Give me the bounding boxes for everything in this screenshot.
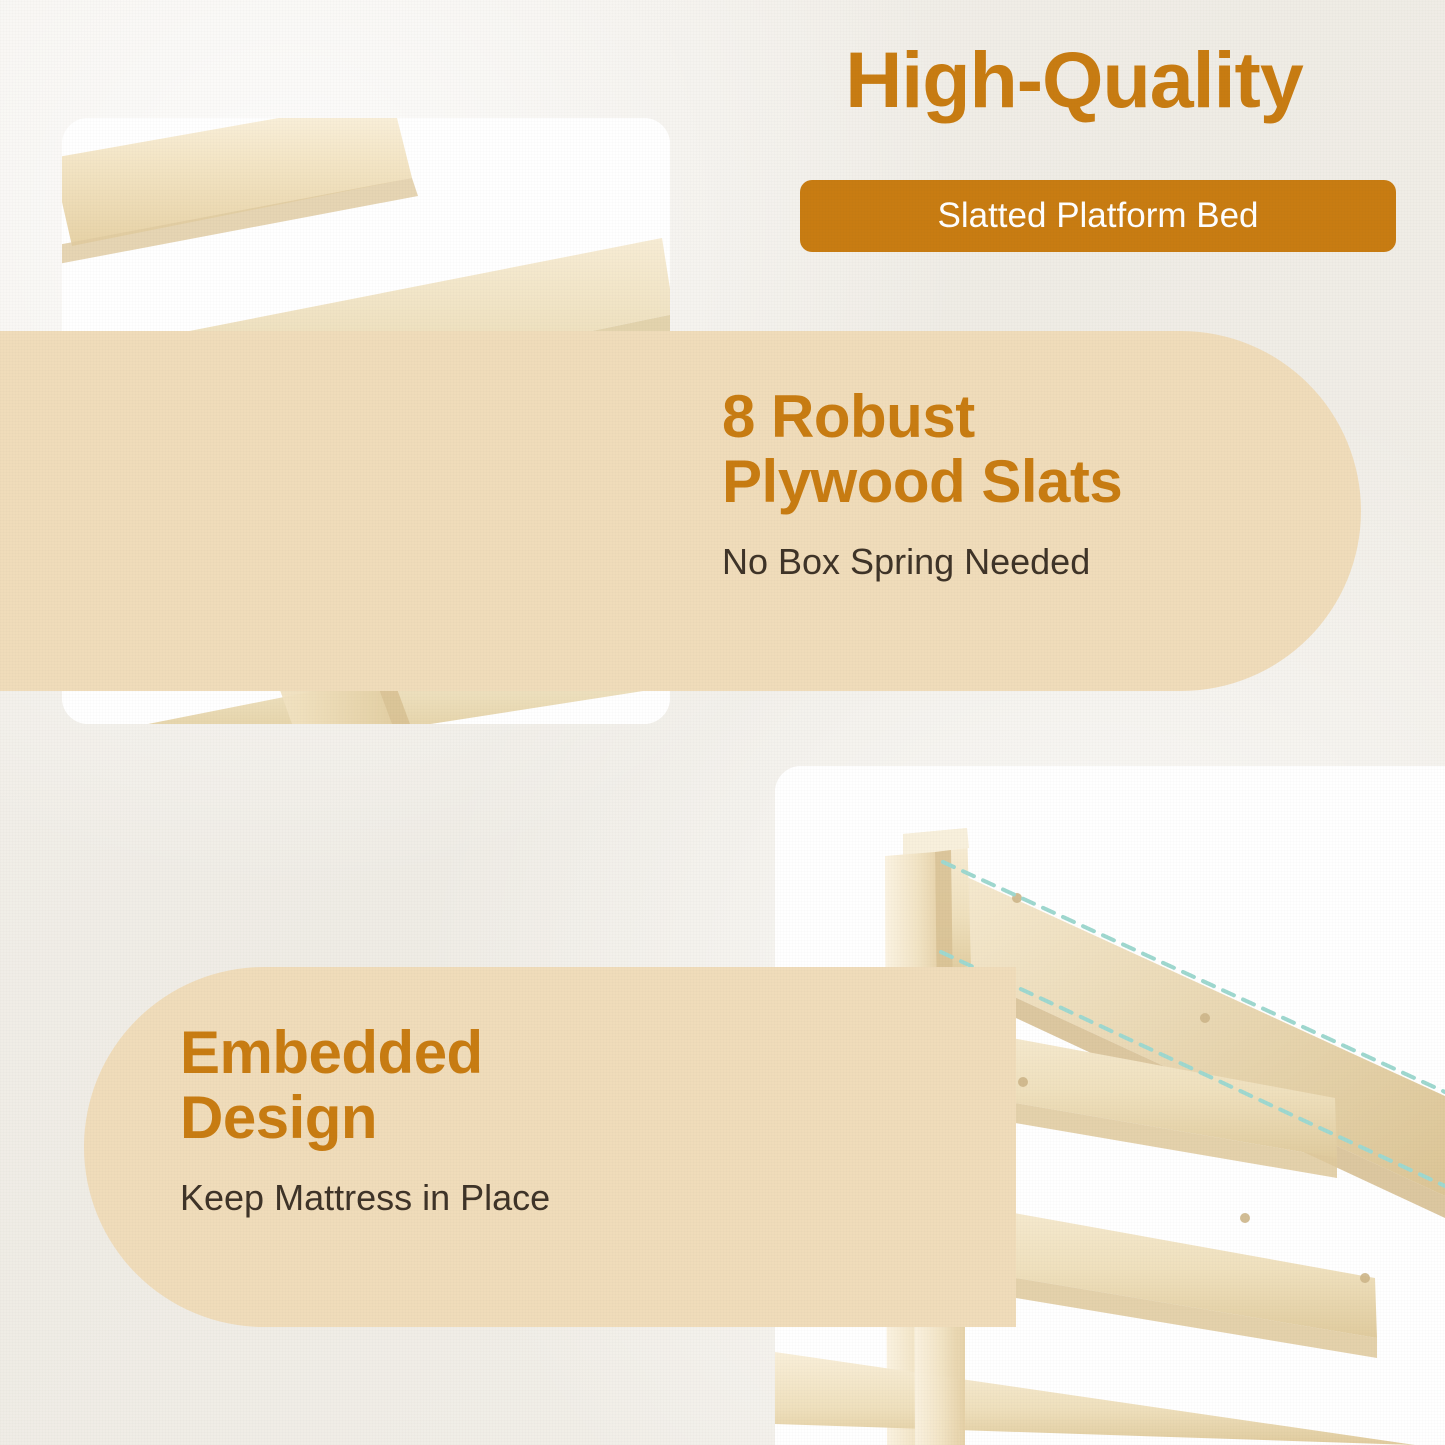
subtitle-text: Slatted Platform Bed [938, 196, 1259, 236]
feature-text-block: 8 Robust Plywood Slats No Box Spring Nee… [722, 385, 1122, 583]
page-title: High-Quality [718, 40, 1430, 119]
feature-text-block: Embedded Design Keep Mattress in Place [180, 1021, 550, 1219]
feature-subtitle: No Box Spring Needed [722, 541, 1122, 583]
feature-card-embedded-design: Embedded Design Keep Mattress in Place [84, 967, 1016, 1327]
subtitle-badge: Slatted Platform Bed [800, 180, 1396, 252]
feature-title: Embedded Design [180, 1021, 550, 1151]
marketing-infographic: High-Quality Slatted Platform Bed 8 Robu… [0, 0, 1445, 1445]
feature-title: 8 Robust Plywood Slats [722, 385, 1122, 515]
feature-subtitle: Keep Mattress in Place [180, 1177, 550, 1219]
feature-card-plywood-slats: 8 Robust Plywood Slats No Box Spring Nee… [0, 331, 1361, 691]
